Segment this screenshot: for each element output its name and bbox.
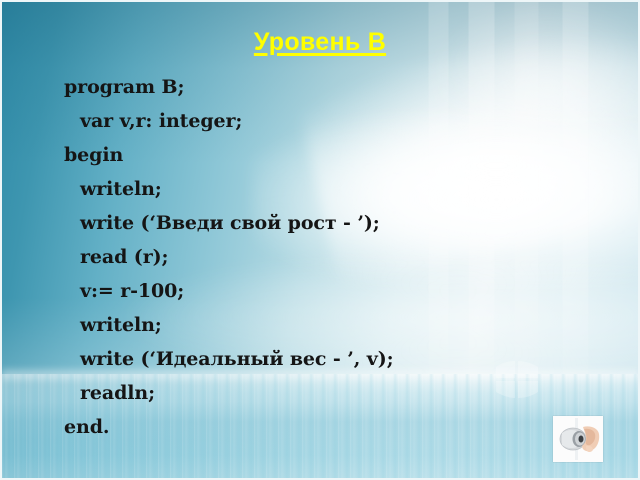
code-block: program B; var v,r: integer; begin write… xyxy=(64,70,604,444)
code-line: write (‘Идеальный вес - ’, v); xyxy=(64,342,604,376)
code-line: begin xyxy=(64,138,604,172)
code-line: v:= r-100; xyxy=(64,274,604,308)
code-line: var v,r: integer; xyxy=(64,104,604,138)
hand-turning-dial-thumbnail[interactable] xyxy=(553,416,603,462)
code-line: read (r); xyxy=(64,240,604,274)
code-line: write (‘Введи свой рост - ’); xyxy=(64,206,604,240)
page-title: Уровень В xyxy=(2,28,638,57)
code-line: end. xyxy=(64,410,604,444)
code-line: readln; xyxy=(64,376,604,410)
code-line: writeln; xyxy=(64,172,604,206)
code-line: writeln; xyxy=(64,308,604,342)
code-line: program B; xyxy=(64,70,604,104)
slide-canvas: Уровень В program B; var v,r: integer; b… xyxy=(0,0,640,480)
